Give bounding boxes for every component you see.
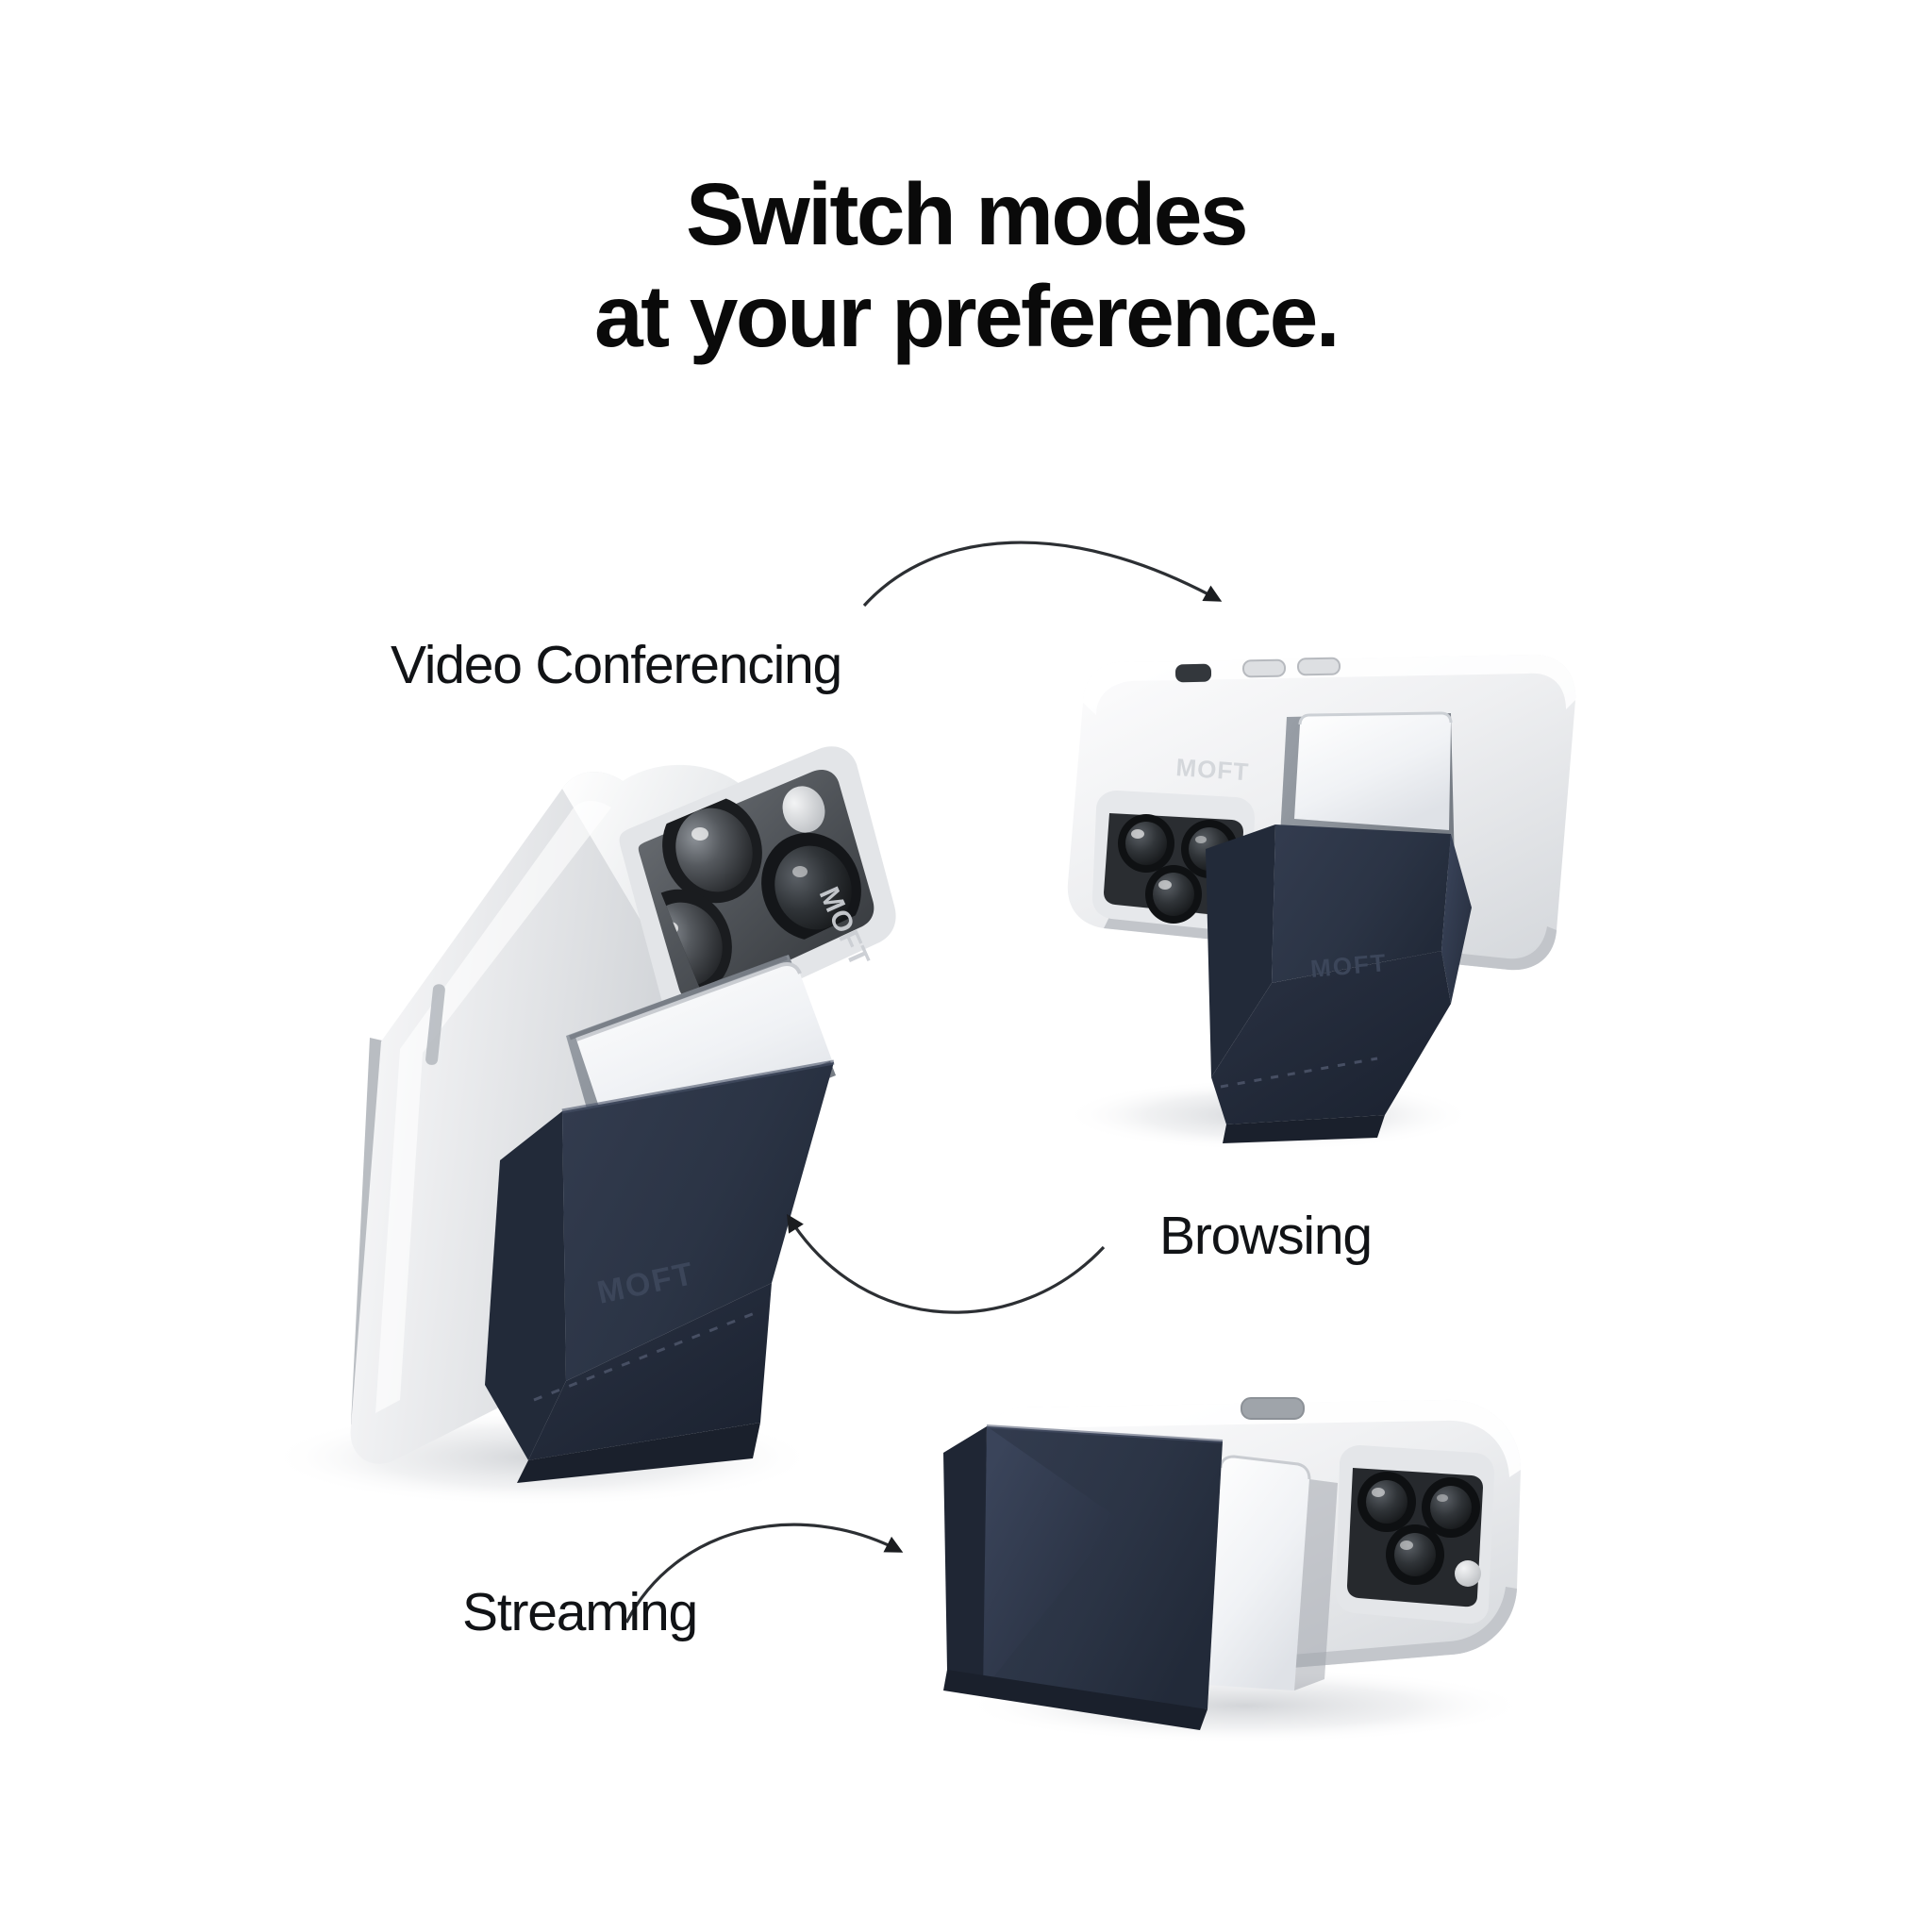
camera-module [1336, 1445, 1494, 1624]
camera-flash-icon [1455, 1560, 1481, 1587]
mode-label-browsing: Browsing [1159, 1205, 1372, 1267]
power-button [1241, 1398, 1304, 1419]
camera-lens-glass [1394, 1533, 1436, 1576]
camera-lens-glint [1131, 829, 1144, 839]
camera-lens-glint [1437, 1494, 1448, 1502]
camera-lens-glass [1125, 822, 1167, 865]
mode-label-streaming: Streaming [462, 1581, 697, 1643]
inserted-card [1294, 713, 1451, 830]
camera-lens-glass [1430, 1486, 1472, 1529]
product-video-conferencing: MOFT [269, 746, 896, 1507]
product-browsing: MOFT MOFT [1063, 655, 1575, 1151]
poster-canvas: Switch modes at your preference. [0, 0, 1932, 1932]
volume-down-button [1298, 658, 1340, 675]
camera-lens-glint [792, 866, 808, 877]
action-button [1175, 664, 1211, 683]
camera-lens-glint [1400, 1541, 1413, 1550]
camera-lens-glint [1158, 880, 1172, 890]
folding-stand [943, 1426, 1223, 1730]
camera-lens-glass [1366, 1480, 1407, 1524]
camera-lens-glass [1153, 873, 1194, 916]
inserted-card [1206, 1457, 1309, 1690]
stand-left-wing [943, 1426, 987, 1690]
brand-mark: MOFT [1175, 753, 1251, 786]
product-scene: MOFT [0, 0, 1932, 1932]
mode-label-video-conferencing: Video Conferencing [391, 634, 841, 696]
volume-up-button [1243, 660, 1285, 677]
camera-lens-glint [691, 827, 708, 841]
product-streaming [943, 1398, 1528, 1743]
camera-lens-glint [1372, 1488, 1385, 1497]
camera-lens-glint [1195, 836, 1207, 843]
